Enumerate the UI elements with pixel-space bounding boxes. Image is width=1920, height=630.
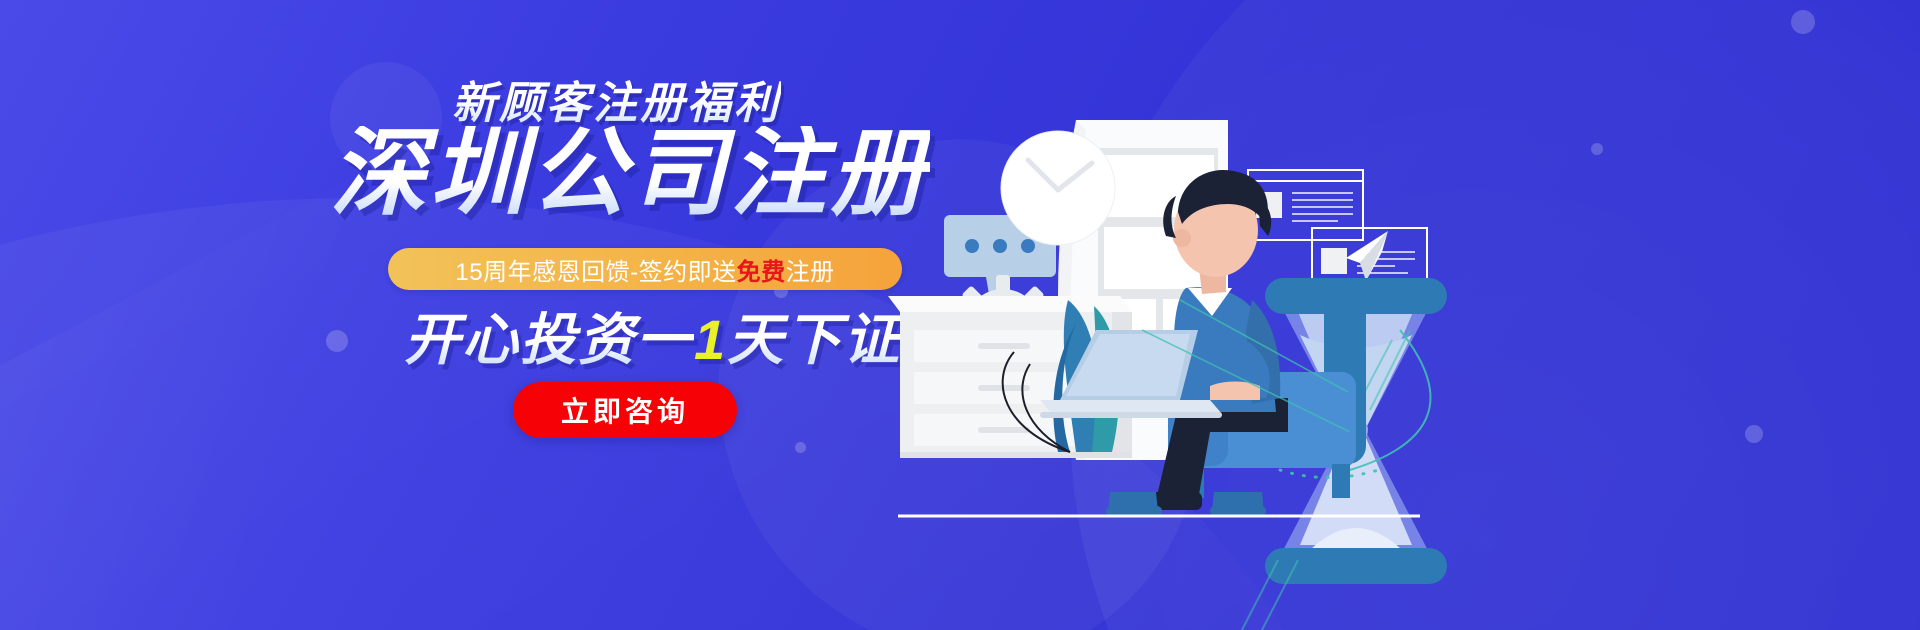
consult-now-button[interactable]: 立即咨询 bbox=[513, 382, 737, 438]
subline-number: 1 bbox=[694, 308, 727, 371]
wall-clock-icon bbox=[1001, 131, 1115, 245]
copy-block: 新顾客注册福利 深圳公司注册 15周年感恩回馈-签约即送免费注册 开心投资一1天… bbox=[0, 0, 960, 630]
offer-pill-highlight: 免费 bbox=[737, 252, 786, 287]
offer-pill-tail: 注册 bbox=[786, 252, 835, 287]
subline-after: 天下证 bbox=[727, 308, 901, 371]
page-title: 深圳公司注册 bbox=[330, 126, 930, 222]
subline-before: 开心投资一 bbox=[404, 308, 694, 371]
hero-illustration bbox=[880, 0, 1920, 630]
document-card-back-lines bbox=[1292, 193, 1353, 221]
document-card-front-thumb bbox=[1321, 248, 1347, 274]
subline-text: 开心投资一1天下证 bbox=[404, 312, 901, 368]
hourglass-cap-bottom bbox=[1265, 548, 1447, 584]
promo-banner: 新顾客注册福利 深圳公司注册 15周年感恩回馈-签约即送免费注册 开心投资一1天… bbox=[0, 0, 1920, 630]
consult-now-label: 立即咨询 bbox=[561, 390, 689, 430]
offer-pill: 15周年感恩回馈-签约即送免费注册 bbox=[388, 248, 902, 290]
offer-pill-lead: 15周年感恩回馈-签约即送 bbox=[455, 252, 736, 287]
